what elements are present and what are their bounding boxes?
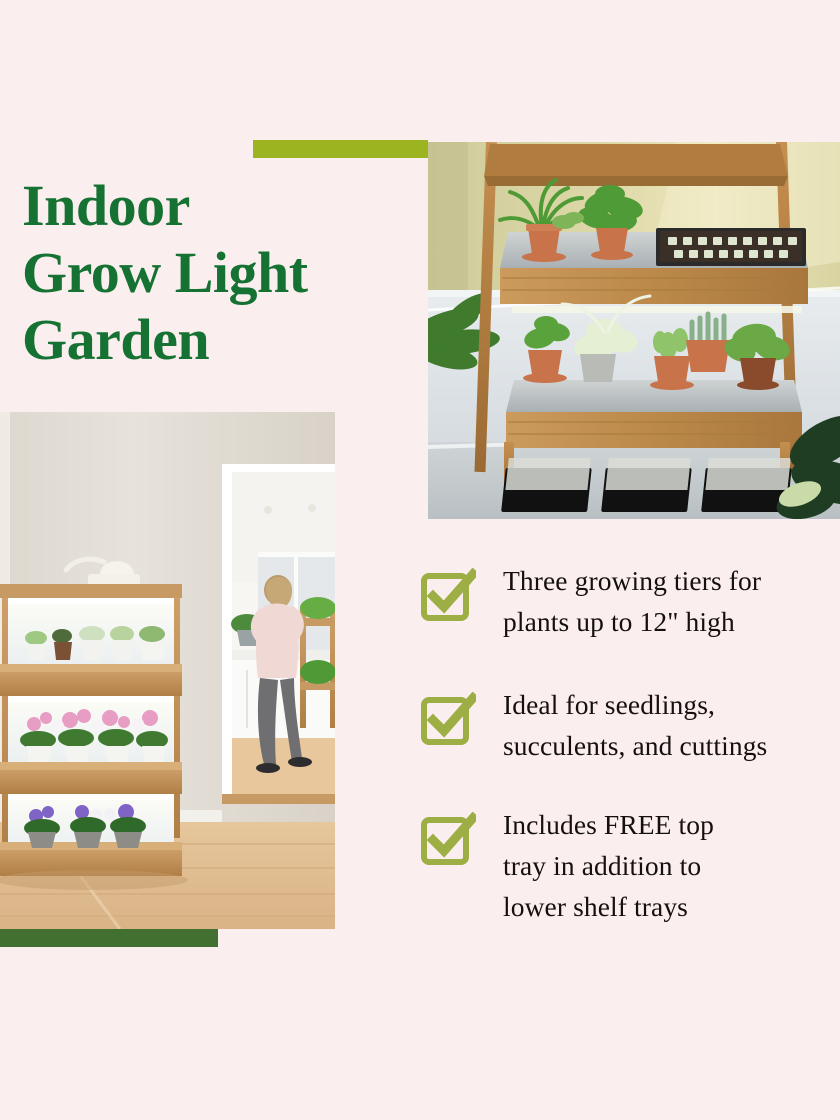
feature-text: Three growing tiers for plants up to 12"… [503,560,820,642]
product-feature-card: Indoor Grow Light Garden [0,0,840,1120]
feature-text: Includes FREE top tray in addition to lo… [503,804,820,927]
feature-text-line-2: succulents, and cuttings [503,730,767,761]
forest-accent-bar [0,929,218,947]
list-item: Includes FREE top tray in addition to lo… [420,804,820,934]
check-square-icon [420,566,476,624]
feature-text-line-1: Includes FREE top [503,809,714,840]
check-square-icon [420,810,476,868]
page-title: Indoor Grow Light Garden [22,172,352,373]
olive-accent-bar [253,140,428,158]
room-grow-stand-photo [0,412,335,929]
page-title-line-2: Grow Light [22,239,352,306]
page-title-line-1: Indoor [22,172,352,239]
feature-text-line-2: plants up to 12" high [503,606,735,637]
feature-text-line-1: Ideal for seedlings, [503,689,715,720]
page-title-line-3: Garden [22,306,352,373]
list-item: Three growing tiers for plants up to 12"… [420,560,820,684]
feature-text-line-2: tray in addition to [503,850,701,881]
list-item: Ideal for seedlings, succulents, and cut… [420,684,820,804]
check-square-icon [420,690,476,748]
feature-text-line-3: lower shelf trays [503,891,688,922]
feature-text-line-1: Three growing tiers for [503,565,761,596]
feature-list: Three growing tiers for plants up to 12"… [420,560,820,934]
hero-grow-stand-photo [428,142,840,519]
feature-text: Ideal for seedlings, succulents, and cut… [503,684,820,766]
